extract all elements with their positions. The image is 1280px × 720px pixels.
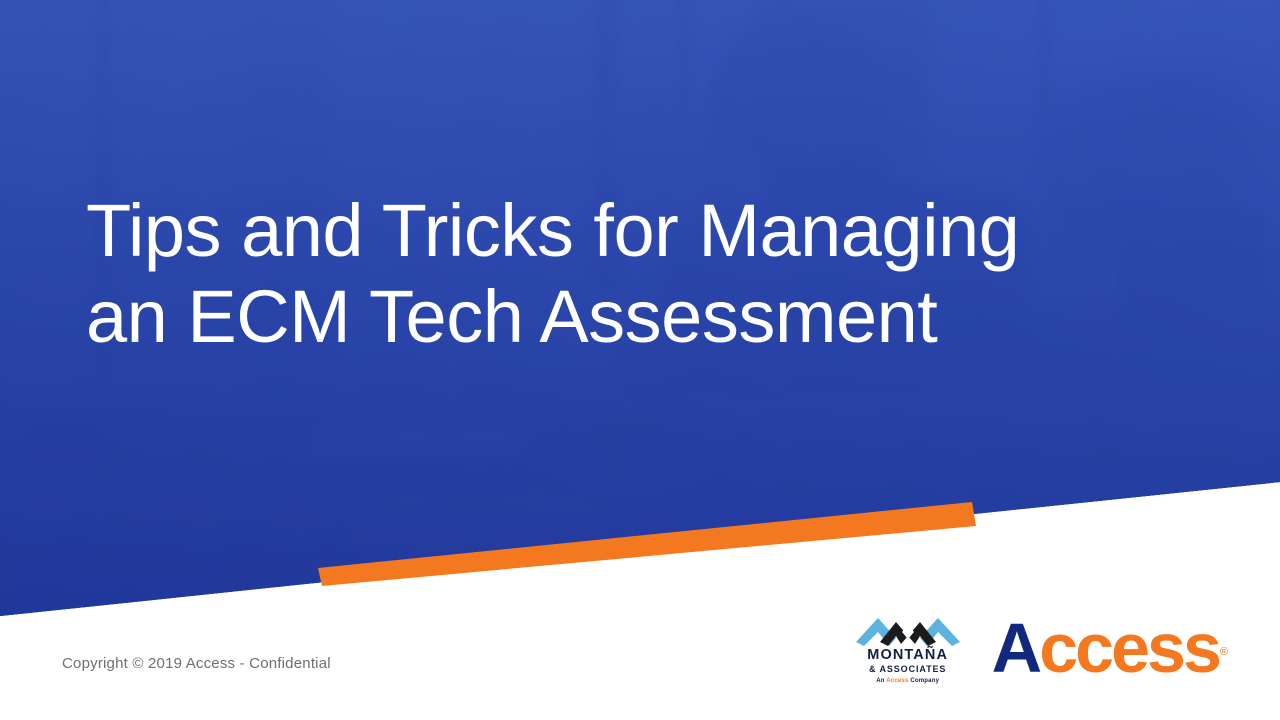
montana-associates-logo: MONTAÑA & ASSOCIATES An Access Company (854, 612, 962, 684)
slide-title: Tips and Tricks for Managing an ECM Tech… (86, 188, 1166, 360)
montana-mountain-icon (856, 612, 960, 646)
access-registered-trademark-icon: ® (1220, 647, 1228, 658)
montana-wordmark: MONTAÑA (867, 648, 948, 663)
access-letter-a: A (992, 609, 1040, 687)
access-logo: Access ® (992, 613, 1228, 683)
tagline-brand: Access (886, 678, 908, 684)
tagline-suffix: Company (909, 678, 940, 684)
montana-subtitle: & ASSOCIATES (869, 664, 946, 675)
access-letters-rest: ccess (1039, 609, 1219, 687)
footer-logos: MONTAÑA & ASSOCIATES An Access Company A… (854, 612, 1228, 684)
copyright-text: Copyright © 2019 Access - Confidential (62, 655, 331, 672)
presentation-slide: Tips and Tricks for Managing an ECM Tech… (0, 0, 1280, 720)
tagline-prefix: An (876, 678, 886, 684)
access-wordmark: Access (992, 613, 1219, 683)
montana-tagline: An Access Company (876, 678, 939, 684)
